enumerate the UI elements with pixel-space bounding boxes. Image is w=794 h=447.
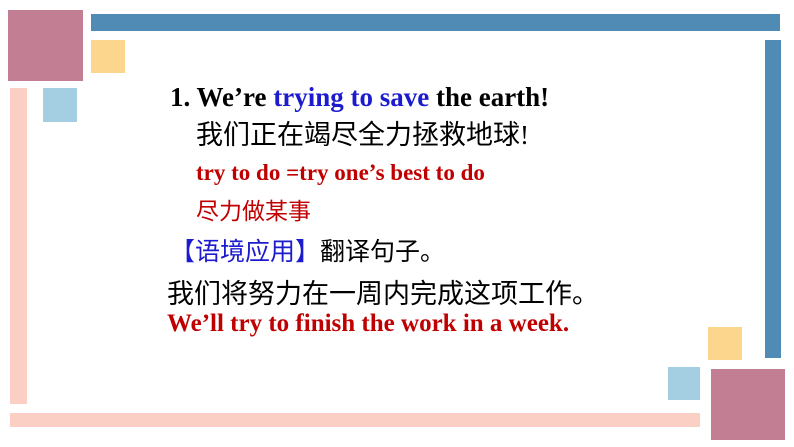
sentence-part-after: the earth!	[429, 82, 549, 112]
item-number: 1.	[170, 82, 197, 112]
sentence-highlight-phrase: trying to save	[273, 82, 429, 112]
exercise-heading-tag: 【语境应用】	[170, 239, 320, 266]
exercise-heading-text: 翻译句子。	[320, 239, 445, 266]
exercise-heading: 【语境应用】翻译句子。	[170, 232, 445, 268]
slide-canvas: 1. We’re trying to save the earth! 我们正在竭…	[0, 0, 794, 447]
slide-text-body: 1. We’re trying to save the earth! 我们正在竭…	[0, 0, 794, 447]
item-number-and-english-sentence: 1. We’re trying to save the earth!	[170, 82, 549, 113]
exercise-english-answer: We’ll try to finish the work in a week.	[167, 310, 569, 338]
phrase-equivalence-note: try to do =try one’s best to do	[196, 160, 485, 186]
exercise-chinese-prompt: 我们将努力在一周内完成这项工作。	[167, 272, 599, 311]
sentence-part-before: We’re	[197, 82, 274, 112]
chinese-translation-sentence-1: 我们正在竭尽全力拯救地球!	[196, 113, 529, 152]
phrase-chinese-meaning: 尽力做某事	[196, 192, 311, 226]
